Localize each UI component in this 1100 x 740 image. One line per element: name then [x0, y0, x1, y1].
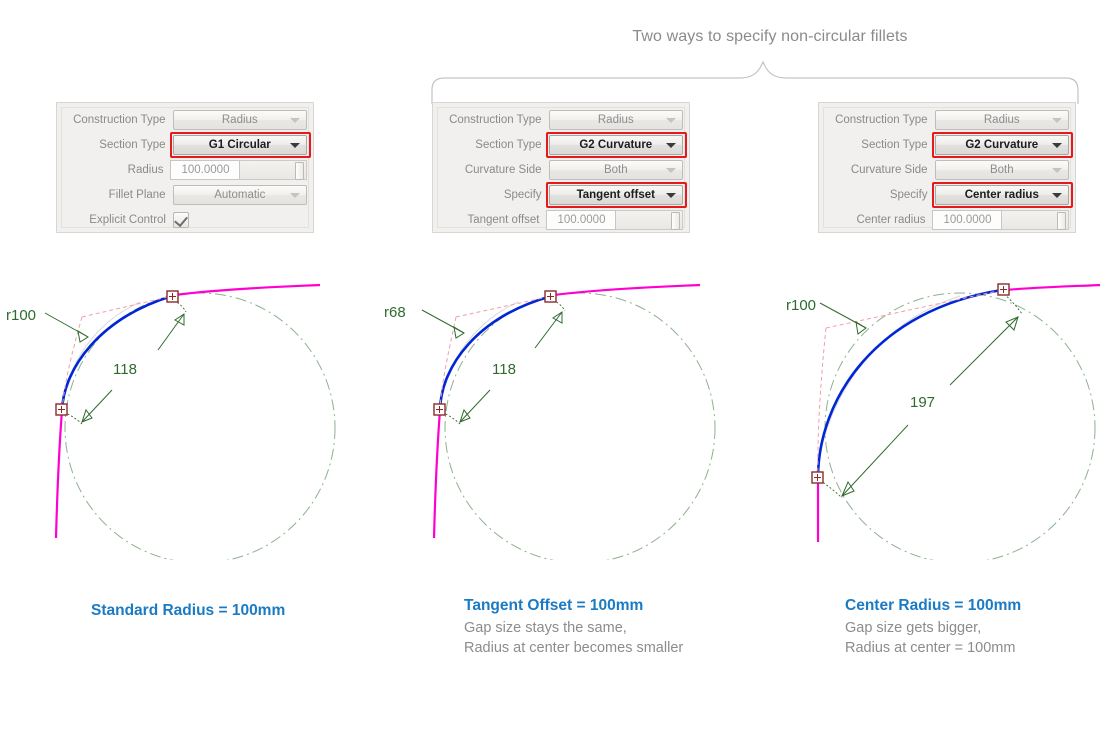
label-tangent-offset: Tangent offset [441, 214, 546, 226]
slider-handle[interactable] [671, 212, 680, 230]
row-curvature-side: Curvature Side Both [441, 160, 683, 180]
radius-label: r68 [384, 304, 406, 321]
combo-construction-type[interactable]: Radius [173, 110, 307, 130]
page-title: Two ways to specify non-circular fillets [560, 28, 980, 46]
label-construction-type: Construction Type [827, 114, 935, 126]
slider-handle[interactable] [1057, 212, 1066, 230]
chevron-down-icon [1052, 118, 1062, 123]
combo-section-type[interactable]: G2 Curvature [935, 135, 1069, 155]
caption-center-radius: Center Radius = 100mm Gap size gets bigg… [845, 597, 1021, 658]
chevron-down-icon [666, 168, 676, 173]
dialog-panel-tangent-offset: Construction Type Radius Section Type G2… [432, 102, 690, 233]
gap-dim-line-upper [158, 314, 184, 350]
row-radius: Radius 100.0000 [65, 160, 307, 180]
row-construction-type: Construction Type Radius [827, 110, 1069, 130]
curve-extension [62, 302, 140, 410]
caption-title: Tangent Offset = 100mm [464, 597, 683, 615]
tangent-offset-input[interactable]: 100.0000 [546, 210, 616, 230]
gap-dim-line-lower [460, 390, 490, 422]
endpoint-marker-left [812, 472, 823, 483]
endpoint-marker-left [56, 404, 67, 415]
caption-title: Center Radius = 100mm [845, 597, 1021, 615]
label-curvature-side: Curvature Side [827, 164, 935, 176]
row-construction-type: Construction Type Radius [441, 110, 683, 130]
endpoint-marker-top [167, 291, 178, 302]
label-section-type: Section Type [441, 139, 549, 151]
label-radius: Radius [65, 164, 170, 176]
row-specify: Specify Tangent offset [441, 185, 683, 205]
label-section-type: Section Type [65, 139, 173, 151]
radius-slider[interactable] [240, 160, 307, 180]
row-specify: Specify Center radius [827, 185, 1069, 205]
chevron-down-icon [666, 143, 676, 148]
chevron-down-icon [1052, 193, 1062, 198]
row-section-type: Section Type G1 Circular [65, 135, 307, 155]
input-curve-top [175, 285, 320, 295]
gap-dim-line-upper [535, 312, 562, 348]
combo-construction-type[interactable]: Radius [935, 110, 1069, 130]
numfield-radius[interactable]: 100.0000 [170, 160, 307, 180]
chevron-down-icon [290, 143, 300, 148]
combo-curvature-side[interactable]: Both [935, 160, 1069, 180]
row-curvature-side: Curvature Side Both [827, 160, 1069, 180]
gap-dim-line-lower [842, 425, 908, 496]
curve-extension [440, 302, 518, 410]
caption-tangent-offset: Tangent Offset = 100mm Gap size stays th… [464, 597, 683, 658]
brace-connector [430, 58, 1080, 104]
reference-circle [825, 293, 1095, 560]
tangent-offset-slider[interactable] [616, 210, 683, 230]
caption-standard-radius: Standard Radius = 100mm [91, 602, 285, 623]
chevron-down-icon [666, 118, 676, 123]
gap-dim-line-lower [82, 390, 112, 422]
center-radius-slider[interactable] [1002, 210, 1069, 230]
row-construction-type: Construction Type Radius [65, 110, 307, 130]
chevron-down-icon [666, 193, 676, 198]
combo-curvature-side-value: Both [604, 164, 628, 176]
label-construction-type: Construction Type [65, 114, 173, 126]
row-center-radius: Center radius 100.0000 [827, 210, 1069, 230]
combo-section-type-value: G2 Curvature [579, 139, 652, 151]
fillet-arc [440, 296, 552, 410]
caption-line-1: Gap size gets bigger, [845, 618, 1021, 638]
endpoint-marker-left [434, 404, 445, 415]
label-curvature-side: Curvature Side [441, 164, 549, 176]
chevron-down-icon [290, 193, 300, 198]
input-curve-top [554, 285, 700, 295]
label-explicit-control: Explicit Control [65, 214, 173, 226]
combo-curvature-side-value: Both [990, 164, 1014, 176]
combo-construction-type[interactable]: Radius [549, 110, 683, 130]
construction-line-top [82, 296, 172, 317]
center-radius-input[interactable]: 100.0000 [932, 210, 1002, 230]
radius-input[interactable]: 100.0000 [170, 160, 240, 180]
checkbox-explicit-control[interactable] [173, 212, 189, 228]
radius-label: r100 [786, 297, 816, 314]
input-curve-left [434, 410, 440, 538]
radius-label: r100 [6, 307, 36, 324]
combo-construction-type-value: Radius [984, 114, 1020, 126]
label-specify: Specify [441, 189, 549, 201]
row-section-type: Section Type G2 Curvature [827, 135, 1069, 155]
caption-line-1: Gap size stays the same, [464, 618, 683, 638]
endpoint-marker-top [545, 291, 556, 302]
label-center-radius: Center radius [827, 214, 932, 226]
check-icon [174, 213, 188, 227]
combo-section-type-value: G2 Curvature [965, 139, 1038, 151]
combo-fillet-plane[interactable]: Automatic [173, 185, 307, 205]
endpoint-marker-top [998, 284, 1009, 295]
label-specify: Specify [827, 189, 935, 201]
combo-specify-value: Tangent offset [577, 189, 655, 201]
combo-specify-value: Center radius [965, 189, 1039, 201]
chevron-down-icon [1052, 143, 1062, 148]
chevron-down-icon [1052, 168, 1062, 173]
fillet-arc [818, 290, 1002, 478]
combo-curvature-side[interactable]: Both [549, 160, 683, 180]
gap-label: 118 [113, 361, 137, 378]
label-section-type: Section Type [827, 139, 935, 151]
row-fillet-plane: Fillet Plane Automatic [65, 185, 307, 205]
diagram-standard-radius: r100 118 [0, 270, 360, 560]
caption-line-2: Radius at center becomes smaller [464, 638, 683, 658]
caption-title: Standard Radius = 100mm [91, 602, 285, 620]
label-fillet-plane: Fillet Plane [65, 189, 173, 201]
input-curve-left [56, 410, 62, 538]
combo-construction-type-value: Radius [598, 114, 634, 126]
combo-specify[interactable]: Center radius [935, 185, 1069, 205]
dialog-panel-center-radius: Construction Type Radius Section Type G2… [818, 102, 1076, 233]
slider-handle[interactable] [295, 162, 304, 180]
gap-dim-line-upper [950, 317, 1018, 385]
combo-section-type[interactable]: G1 Circular [173, 135, 307, 155]
gap-label: 197 [910, 394, 935, 411]
row-explicit-control: Explicit Control [65, 210, 307, 230]
row-tangent-offset: Tangent offset 100.0000 [441, 210, 683, 230]
combo-construction-type-value: Radius [222, 114, 258, 126]
combo-section-type-value: G1 Circular [209, 139, 271, 151]
diagram-center-radius: r100 197 [760, 270, 1100, 560]
dialog-panel-g1-circular: Construction Type Radius Section Type G1… [56, 102, 314, 233]
numfield-center-radius[interactable]: 100.0000 [932, 210, 1069, 230]
chevron-down-icon [290, 118, 300, 123]
combo-fillet-plane-value: Automatic [214, 189, 265, 201]
gap-label: 118 [492, 361, 516, 378]
curve-extension [818, 296, 960, 478]
numfield-tangent-offset[interactable]: 100.0000 [546, 210, 683, 230]
row-section-type: Section Type G2 Curvature [441, 135, 683, 155]
reference-circle [445, 293, 715, 560]
input-curve-top [1005, 285, 1100, 290]
combo-section-type[interactable]: G2 Curvature [549, 135, 683, 155]
fillet-arc [62, 296, 172, 410]
gap-ext-upper [1004, 294, 1022, 314]
caption-line-2: Radius at center = 100mm [845, 638, 1021, 658]
combo-specify[interactable]: Tangent offset [549, 185, 683, 205]
reference-circle [65, 293, 335, 560]
diagram-tangent-offset: r68 118 [380, 270, 740, 560]
label-construction-type: Construction Type [441, 114, 549, 126]
